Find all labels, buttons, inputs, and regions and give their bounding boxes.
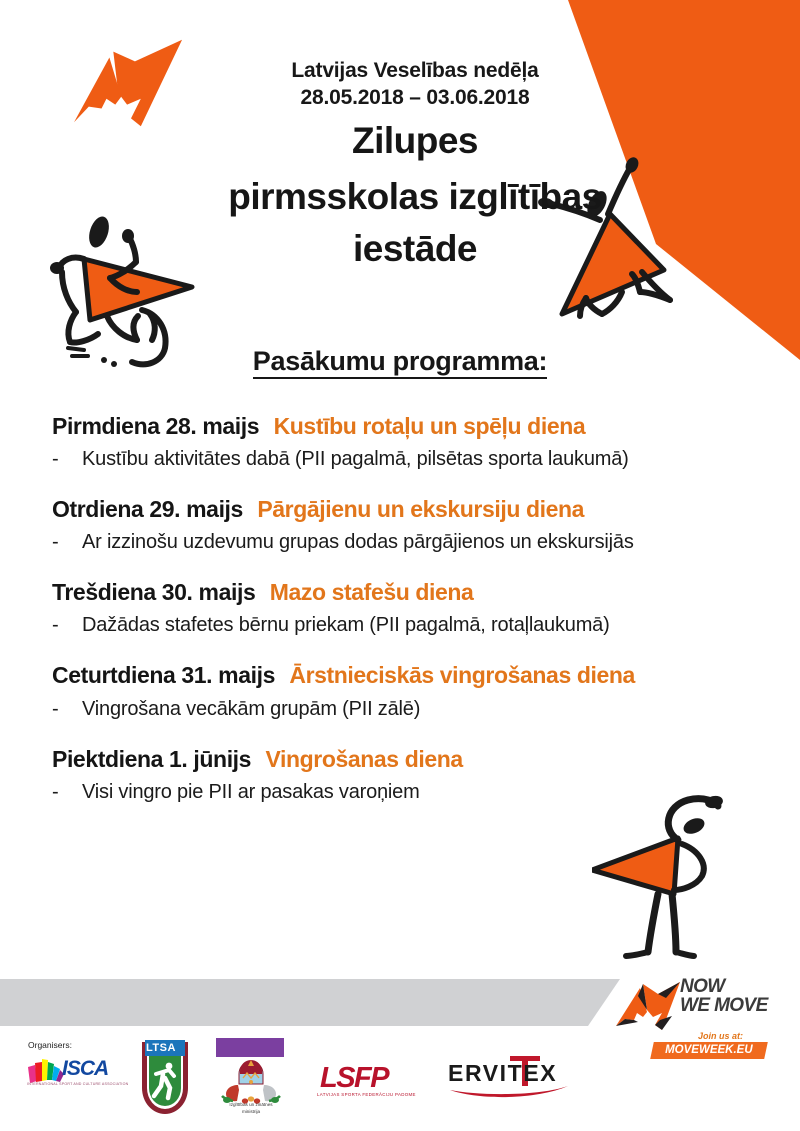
moveweek-url-badge[interactable]: MOVEWEEK.EU xyxy=(650,1042,767,1059)
ministry-name-line-1: Izglītības un zinātnes xyxy=(208,1102,294,1109)
programme-day: Piektdiena 1. jūnijs Vingrošanas diena -… xyxy=(52,746,772,804)
programme-day-name: Piektdiena 1. jūnijs xyxy=(52,746,251,772)
latvia-ministry-of-education-and-science-logo: Izglītības un zinātnes ministrija xyxy=(208,1038,294,1126)
brand-line-2: WE MOVE xyxy=(680,996,768,1015)
isca-logo: ISCA INTERNATIONAL SPORT AND CULTURE ASS… xyxy=(26,1054,124,1096)
programme-day: Otrdiena 29. maijs Pārgājienu un ekskurs… xyxy=(52,496,772,554)
programme-day: Pirmdiena 28. maijs Kustību rotaļu un sp… xyxy=(52,413,772,471)
poster-canvas: Latvijas Veselības nedēļa 28.05.2018 – 0… xyxy=(0,0,800,1131)
latvia-coat-of-arms-icon xyxy=(218,1058,284,1104)
poster-title-line-1: Zilupes xyxy=(30,121,800,162)
ltsa-wordmark: LTSA xyxy=(146,1042,176,1054)
programme-day-detail-text: Dažādas stafetes bērnu priekam (PII paga… xyxy=(82,614,772,637)
programme-day-theme: Mazo stafešu diena xyxy=(270,579,474,605)
programme-day-detail: - Vingrošana vecākām grupām (PII zālē) xyxy=(52,698,772,721)
poster-title-line-2: pirmsskolas izglītības xyxy=(30,177,800,218)
programme-day-name: Ceturtdiena 31. maijs xyxy=(52,662,275,688)
ministry-purple-bar xyxy=(216,1038,284,1057)
programme-day-name: Trešdiena 30. maijs xyxy=(52,579,255,605)
nowwemove-footer-logo: NOW WE MOVE Join us at: MOVEWEEK.EU xyxy=(614,974,794,1052)
bullet-dash: - xyxy=(52,531,82,554)
organisers-label: Organisers: xyxy=(28,1040,72,1050)
ministry-name: Izglītības un zinātnes ministrija xyxy=(208,1102,294,1115)
programme-list: Pirmdiena 28. maijs Kustību rotaļu un sp… xyxy=(52,413,772,804)
programme-day-detail-text: Vingrošana vecākām grupām (PII zālē) xyxy=(82,698,772,721)
lsfp-wordmark: LSFP xyxy=(320,1062,388,1095)
programme-day-title: Trešdiena 30. maijs Mazo stafešu diena xyxy=(52,579,772,606)
isca-tagline: INTERNATIONAL SPORT AND CULTURE ASSOCIAT… xyxy=(27,1082,128,1086)
isca-hands-icon xyxy=(26,1055,66,1085)
programme-day-theme: Pārgājienu un ekskursiju diena xyxy=(257,496,584,522)
ltsa-logo: LTSA xyxy=(136,1038,194,1118)
programme-day-detail: - Visi vingro pie PII ar pasakas varoņie… xyxy=(52,781,772,804)
ervitex-logo: ERVITEX xyxy=(444,1056,574,1104)
campaign-dates: 28.05.2018 – 03.06.2018 xyxy=(30,84,800,111)
programme-day-detail-text: Ar izzinošu uzdevumu grupas dodas pārgāj… xyxy=(82,531,772,554)
bullet-dash: - xyxy=(52,448,82,471)
join-us-label: Join us at: xyxy=(698,1031,743,1041)
programme-day: Trešdiena 30. maijs Mazo stafešu diena -… xyxy=(52,579,772,637)
brand-line-1: NOW xyxy=(680,977,768,996)
programme-day-theme: Kustību rotaļu un spēļu diena xyxy=(274,413,586,439)
programme-day-title: Ceturtdiena 31. maijs Ārstnieciskās ving… xyxy=(52,662,772,689)
organisers-strip: Organisers: ISCA INTERNATIONAL SPORT AND… xyxy=(26,1036,546,1126)
programme-heading-text: Pasākumu programma: xyxy=(253,346,547,379)
programme-day-detail: - Dažādas stafetes bērnu priekam (PII pa… xyxy=(52,614,772,637)
programme-day-theme: Ārstnieciskās vingrošanas diena xyxy=(289,662,635,688)
lsfp-logo: LSFP LATVIJAS SPORTA FEDERĀCIJU PADOME xyxy=(316,1062,428,1102)
programme-day-detail-text: Kustību aktivitātes dabā (PII pagalmā, p… xyxy=(82,448,772,471)
ministry-name-line-2: ministrija xyxy=(208,1109,294,1116)
stick-figure-standing-icon xyxy=(592,788,792,968)
nowwemove-wordmark: NOW WE MOVE xyxy=(680,977,768,1016)
programme-day: Ceturtdiena 31. maijs Ārstnieciskās ving… xyxy=(52,662,772,720)
programme-day-title: Otrdiena 29. maijs Pārgājienu un ekskurs… xyxy=(52,496,772,523)
programme-day-detail-text: Visi vingro pie PII ar pasakas varoņiem xyxy=(82,781,772,804)
campaign-name: Latvijas Veselības nedēļa xyxy=(30,58,800,84)
isca-wordmark: ISCA xyxy=(62,1057,108,1081)
programme-heading: Pasākumu programma: xyxy=(0,346,800,377)
programme-day-theme: Vingrošanas diena xyxy=(265,746,462,772)
programme-day-title: Pirmdiena 28. maijs Kustību rotaļu un sp… xyxy=(52,413,772,440)
programme-day-detail: - Ar izzinošu uzdevumu grupas dodas pārg… xyxy=(52,531,772,554)
ervitex-wordmark: ERVITEX xyxy=(448,1060,557,1087)
poster-header: Latvijas Veselības nedēļa 28.05.2018 – 0… xyxy=(0,58,800,270)
lsfp-tagline: LATVIJAS SPORTA FEDERĀCIJU PADOME xyxy=(317,1092,416,1097)
programme-day-title: Piektdiena 1. jūnijs Vingrošanas diena xyxy=(52,746,772,773)
bullet-dash: - xyxy=(52,698,82,721)
programme-day-detail: - Kustību aktivitātes dabā (PII pagalmā,… xyxy=(52,448,772,471)
programme-day-name: Pirmdiena 28. maijs xyxy=(52,413,259,439)
programme-day-name: Otrdiena 29. maijs xyxy=(52,496,243,522)
moveweek-url-text: MOVEWEEK.EU xyxy=(665,1044,753,1056)
bullet-dash: - xyxy=(52,614,82,637)
nowwemove-arrow-mark-icon xyxy=(614,976,682,1032)
poster-title-line-3: iestāde xyxy=(30,229,800,270)
bullet-dash: - xyxy=(52,781,82,804)
gray-footer-band xyxy=(0,979,660,1026)
